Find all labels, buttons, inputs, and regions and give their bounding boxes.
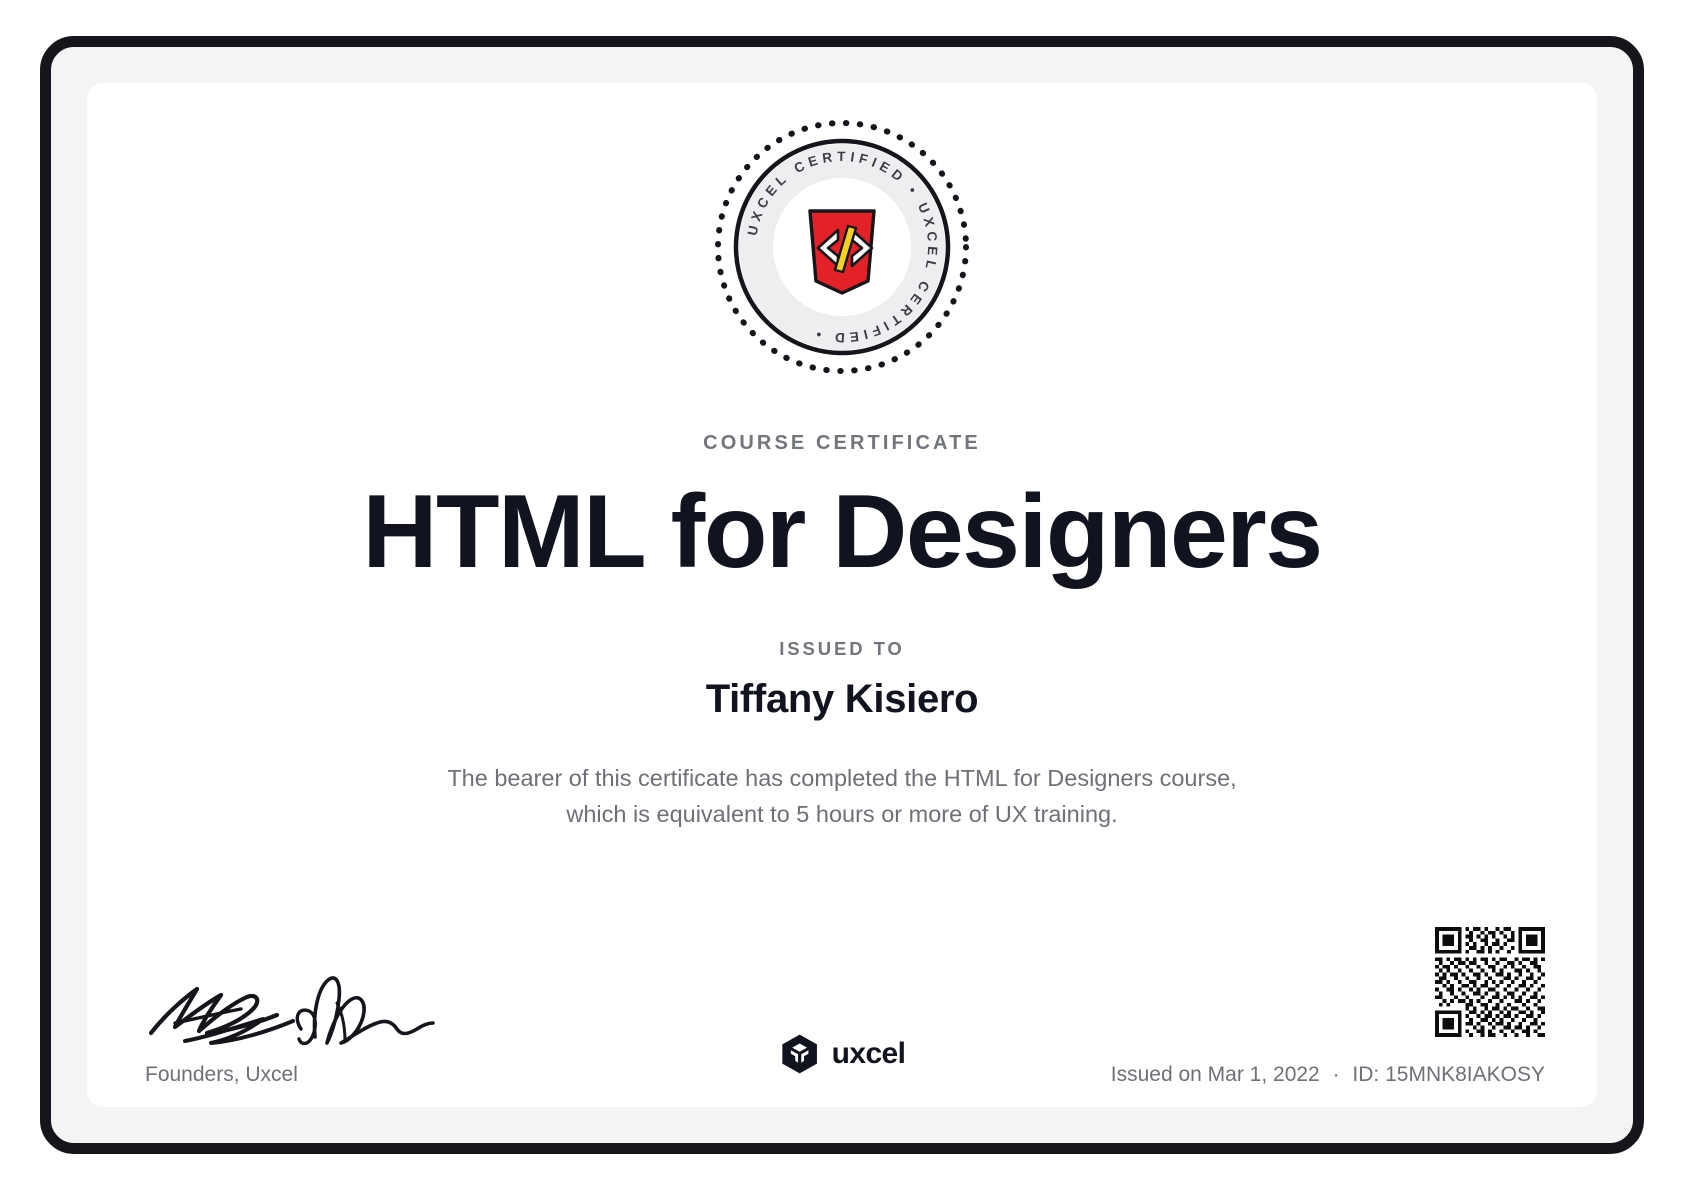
certificate-description: The bearer of this certificate has compl…	[412, 761, 1272, 832]
issue-meta-block: Issued on Mar 1, 2022 · ID: 15MNK8IAKOSY	[1111, 927, 1545, 1087]
description-line-2: which is equivalent to 5 hours or more o…	[412, 797, 1272, 833]
uxcel-brand-logo: uxcel	[779, 1033, 906, 1075]
signature-block: Founders, Uxcel	[137, 957, 517, 1087]
seal-shield-emblem	[810, 211, 874, 293]
certificate-card: UXCEL CERTIFIED • UXCEL CERTIFIED • COUR…	[87, 83, 1597, 1107]
course-title: HTML for Designers	[87, 478, 1597, 587]
uxcel-wordmark: uxcel	[832, 1037, 906, 1071]
certificate-id: ID: 15MNK8IAKOSY	[1352, 1063, 1545, 1086]
certificate-footer: Founders, Uxcel uxcel	[87, 887, 1597, 1107]
meta-separator: ·	[1326, 1063, 1347, 1086]
uxcel-certified-seal: UXCEL CERTIFIED • UXCEL CERTIFIED •	[710, 115, 974, 379]
founders-label: Founders, Uxcel	[145, 1063, 517, 1087]
founders-signatures	[145, 957, 435, 1049]
certificate-qr-code[interactable]	[1435, 927, 1545, 1037]
seal-graphic: UXCEL CERTIFIED • UXCEL CERTIFIED •	[710, 115, 974, 379]
issue-meta-text: Issued on Mar 1, 2022 · ID: 15MNK8IAKOSY	[1111, 1063, 1545, 1087]
certificate-frame: UXCEL CERTIFIED • UXCEL CERTIFIED • COUR…	[40, 36, 1644, 1154]
recipient-name: Tiffany Kisiero	[87, 677, 1597, 722]
qr-code-graphic	[1435, 927, 1545, 1037]
issued-to-label: ISSUED TO	[87, 638, 1597, 660]
uxcel-hexagon-icon	[779, 1033, 821, 1075]
description-line-1: The bearer of this certificate has compl…	[412, 761, 1272, 797]
certificate-kind-label: COURSE CERTIFICATE	[87, 432, 1597, 455]
issued-on-date: Issued on Mar 1, 2022	[1111, 1063, 1320, 1086]
